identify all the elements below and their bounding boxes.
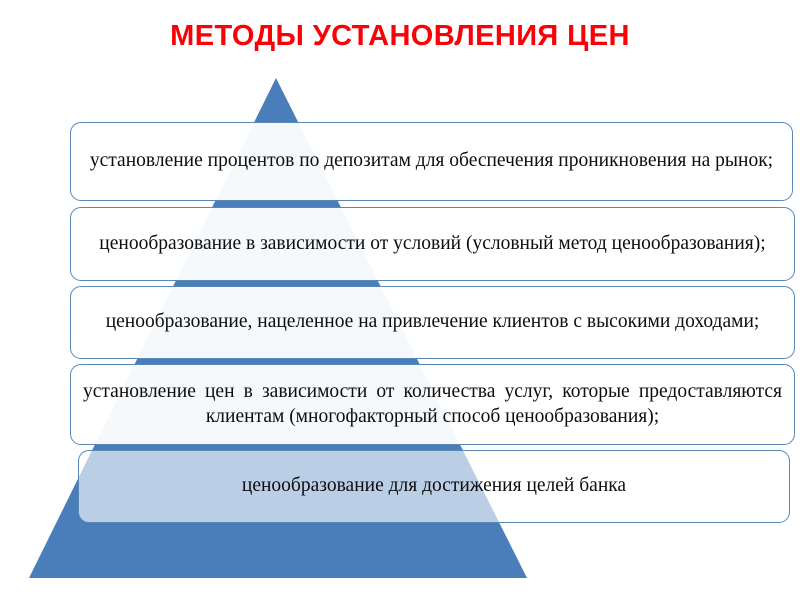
pyramid-apex-cap [0, 0, 800, 122]
method-box-3[interactable]: ценообразование, нацеленное на привлечен… [70, 286, 795, 359]
slide-canvas: МЕТОДЫ УСТАНОВЛЕНИЯ ЦЕН установление про… [0, 0, 800, 600]
method-box-1-text: установление процентов по депозитам для … [83, 149, 780, 174]
method-box-4[interactable]: установление цен в зависимости от количе… [70, 364, 795, 445]
method-box-5[interactable]: ценообразование для достижения целей бан… [78, 450, 790, 523]
method-box-2[interactable]: ценообразование в зависимости от условий… [70, 207, 795, 281]
page-title: МЕТОДЫ УСТАНОВЛЕНИЯ ЦЕН [0, 20, 800, 53]
method-box-4-text: установление цен в зависимости от количе… [83, 380, 782, 429]
method-box-2-text: ценообразование в зависимости от условий… [83, 232, 782, 257]
method-box-3-text: ценообразование, нацеленное на привлечен… [83, 310, 782, 335]
method-box-1[interactable]: установление процентов по депозитам для … [70, 122, 793, 201]
method-box-5-text: ценообразование для достижения целей бан… [91, 474, 777, 499]
